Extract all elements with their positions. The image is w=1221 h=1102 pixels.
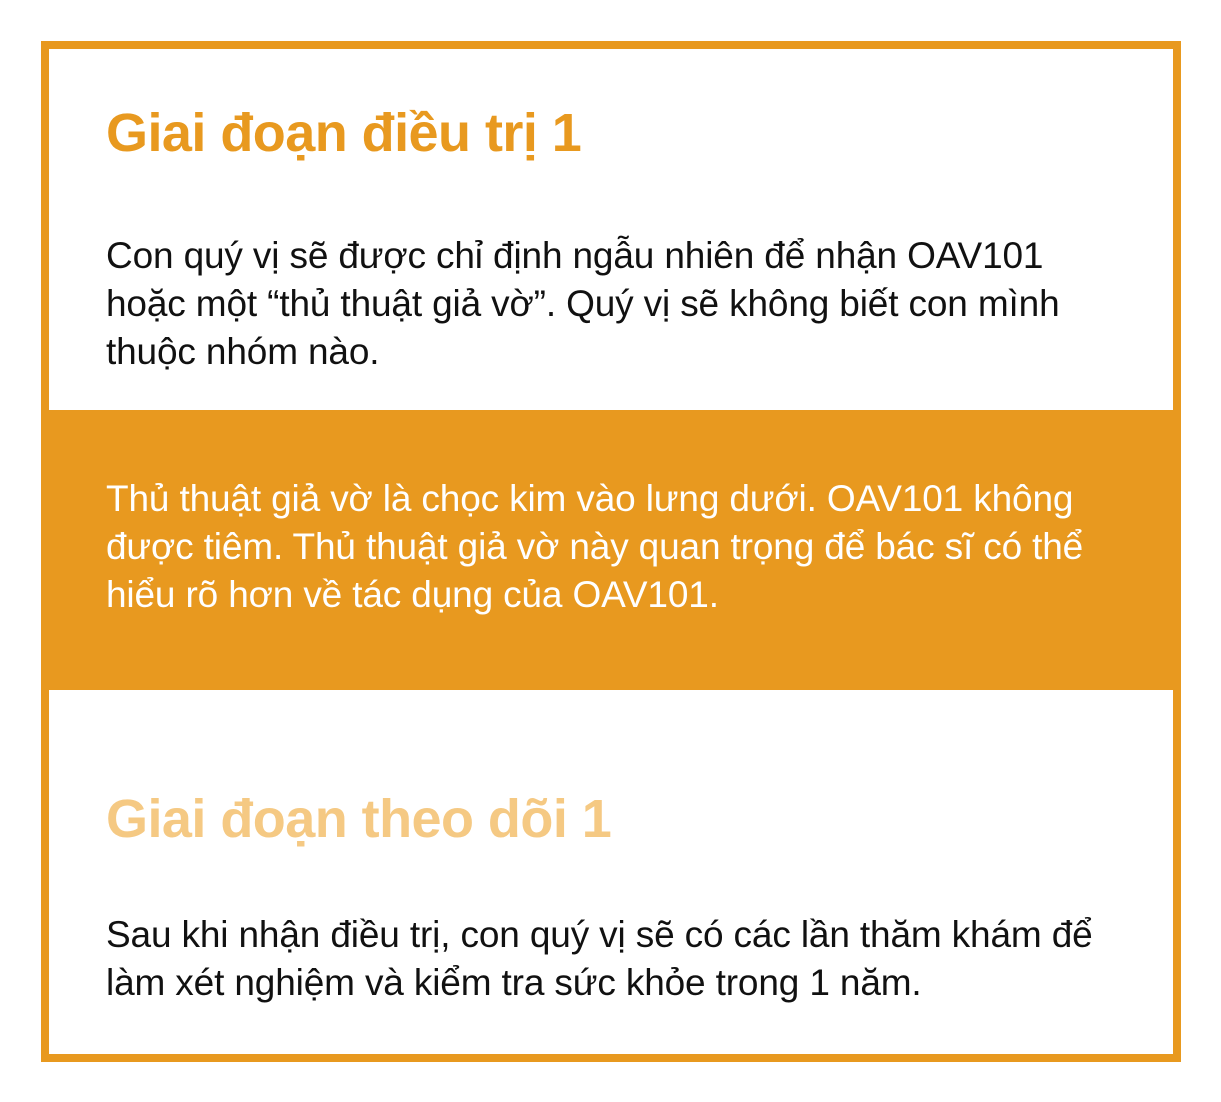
followup-period-body: Sau khi nhận điều trị, con quý vị sẽ có … [106, 911, 1106, 1007]
section-treatment-period: Giai đoạn điều trị 1 Con quý vị sẽ được … [49, 49, 1173, 410]
section-followup-period: Giai đoạn theo dõi 1 Sau khi nhận điều t… [49, 690, 1173, 1054]
sham-procedure-body: Thủ thuật giả vờ là chọc kim vào lưng dư… [106, 475, 1106, 619]
treatment-period-body: Con quý vị sẽ được chỉ định ngẫu nhiên đ… [106, 232, 1091, 376]
treatment-period-heading: Giai đoạn điều trị 1 [106, 102, 581, 164]
page-root: Giai đoạn điều trị 1 Con quý vị sẽ được … [0, 0, 1221, 1102]
card-inner: Giai đoạn điều trị 1 Con quý vị sẽ được … [49, 49, 1173, 1054]
study-phase-card: Giai đoạn điều trị 1 Con quý vị sẽ được … [41, 41, 1181, 1062]
section-sham-procedure-band: Thủ thuật giả vờ là chọc kim vào lưng dư… [49, 410, 1173, 690]
followup-period-heading: Giai đoạn theo dõi 1 [106, 788, 611, 850]
